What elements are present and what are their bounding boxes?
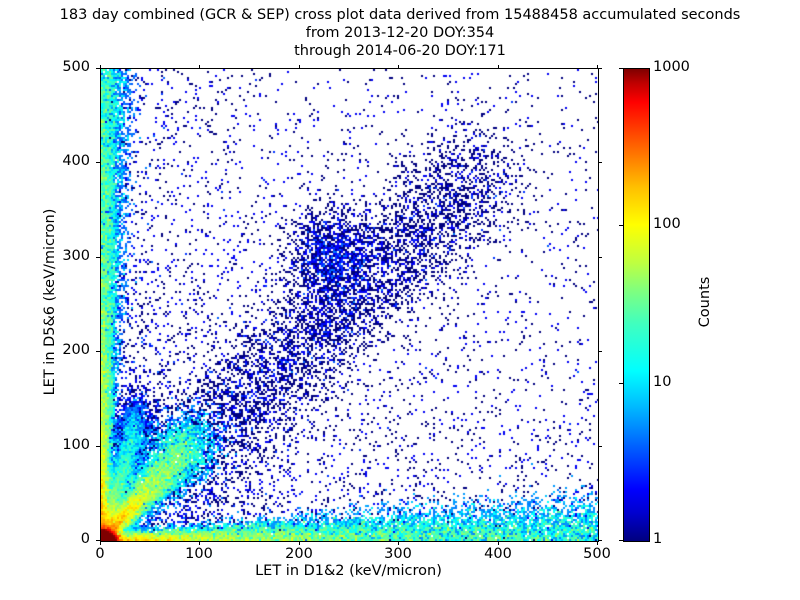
xtick-mark-300 — [398, 541, 399, 545]
ytick-right-400 — [598, 162, 602, 163]
ytick-label-100: 100 — [30, 437, 90, 453]
ytick-mark-0 — [96, 540, 100, 541]
xtick-label-100: 100 — [169, 546, 229, 562]
ytick-mark-400 — [96, 162, 100, 163]
cbar-tick-1 — [619, 540, 623, 541]
colorbar-title: Counts — [697, 202, 713, 402]
xtick-mark-100 — [199, 541, 200, 545]
cbar-label-10: 10 — [653, 374, 671, 390]
ytick-right-500 — [598, 68, 602, 69]
cbar-tick-100 — [619, 225, 623, 226]
ytick-right-300 — [598, 257, 602, 258]
cbar-tick-1000 — [619, 68, 623, 69]
xtick-top-200 — [299, 65, 300, 69]
title-line-2: from 2013-12-20 DOY:354 — [0, 24, 800, 42]
chart-title: 183 day combined (GCR & SEP) cross plot … — [0, 6, 800, 60]
xtick-top-300 — [398, 65, 399, 69]
xtick-mark-400 — [498, 541, 499, 545]
ytick-label-400: 400 — [30, 153, 90, 169]
ytick-right-200 — [598, 351, 602, 352]
plot-area — [100, 68, 599, 542]
title-line-1: 183 day combined (GCR & SEP) cross plot … — [0, 6, 800, 24]
ytick-right-0 — [598, 540, 602, 541]
scatter-heatmap-canvas — [101, 69, 598, 541]
xtick-top-0 — [100, 65, 101, 69]
title-line-3: through 2014-06-20 DOY:171 — [0, 42, 800, 60]
ytick-label-300: 300 — [30, 248, 90, 264]
ytick-label-0: 0 — [30, 531, 90, 547]
cbar-tick-10 — [619, 383, 623, 384]
ytick-label-500: 500 — [30, 59, 90, 75]
colorbar — [623, 68, 650, 542]
xtick-mark-500 — [597, 541, 598, 545]
cbar-label-100: 100 — [653, 216, 681, 232]
xtick-top-400 — [498, 65, 499, 69]
xtick-label-300: 300 — [368, 546, 428, 562]
figure-canvas: 183 day combined (GCR & SEP) cross plot … — [0, 0, 800, 600]
cbar-label-1: 1 — [653, 531, 662, 547]
ytick-mark-200 — [96, 351, 100, 352]
xtick-mark-0 — [100, 541, 101, 545]
ytick-right-100 — [598, 446, 602, 447]
ytick-mark-300 — [96, 257, 100, 258]
xtick-label-200: 200 — [269, 546, 329, 562]
ytick-mark-100 — [96, 446, 100, 447]
xtick-label-0: 0 — [70, 546, 130, 562]
ytick-label-200: 200 — [30, 342, 90, 358]
xtick-label-400: 400 — [468, 546, 528, 562]
y-axis-label: LET in D5&6 (keV/micron) — [42, 102, 58, 502]
xtick-label-500: 500 — [567, 546, 627, 562]
xtick-top-100 — [199, 65, 200, 69]
x-axis-label: LET in D1&2 (keV/micron) — [100, 563, 597, 579]
ytick-mark-500 — [96, 68, 100, 69]
xtick-mark-200 — [299, 541, 300, 545]
cbar-label-1000: 1000 — [653, 59, 690, 75]
